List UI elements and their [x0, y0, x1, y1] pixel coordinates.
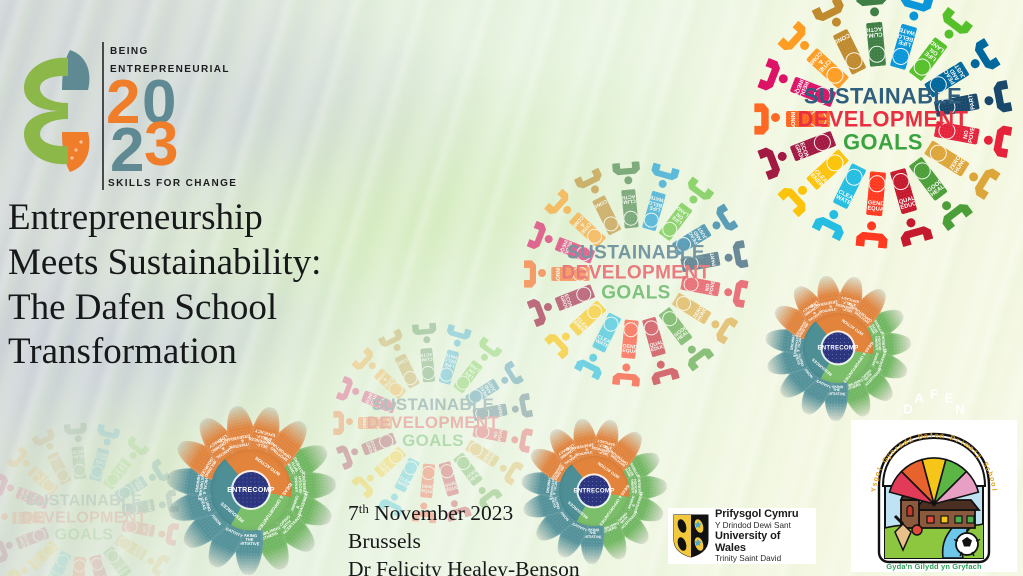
sdg-figure-icon: [679, 170, 719, 210]
sdg-figure-head: [453, 339, 462, 348]
sdg-figure-head: [479, 352, 489, 362]
sdg-figure-icon: [1, 441, 35, 475]
sdg-figure-icon: [538, 325, 579, 365]
sdg-figure-body: [96, 424, 121, 440]
sdg-figure-head: [724, 253, 734, 263]
sdg-goal-label: LIFE BELOW WATER: [444, 352, 458, 368]
sdg-figure-icon: [28, 422, 60, 455]
sdg-center-wordmark: SUSTAINABLEDEVELOPMENTGOALS: [367, 396, 499, 450]
sdg-goal-tile: QUALITY EDUCATION: [890, 168, 917, 215]
dafen-crest: YsgolGynraddDafenPrimarySchoolDAFEN: [859, 424, 1009, 568]
sdg-figure-body: [731, 240, 748, 269]
dafen-primary-school-logo: YsgolGynraddDafenPrimarySchoolDAFEN Gyda…: [851, 420, 1017, 572]
sdg-figure-icon: [648, 357, 682, 393]
event-date-number: 7: [348, 501, 359, 525]
sdg-figure-head: [350, 447, 359, 456]
sdg-figure-head: [908, 10, 920, 22]
sdg-goal-label: GENDER EQUALITY: [867, 200, 882, 213]
sdg-figure-head: [560, 331, 572, 343]
dafen-fan-letter-E: E: [945, 391, 954, 406]
sdg-figure-icon: [63, 416, 88, 443]
sdg-figure-head: [511, 405, 519, 413]
sdg-figure-body: [972, 166, 1001, 200]
sdg-center-wordmark: SUSTAINABLEDEVELOPMENTGOALS: [21, 492, 147, 543]
dafen-crest-motto: Gyda'n Gilydd yn Gryfach: [851, 562, 1017, 571]
sdg-figure-body: [446, 324, 472, 341]
sdg-figure-head: [686, 344, 697, 355]
sdg-figure-icon: [745, 103, 780, 134]
sdg-figure-head: [590, 184, 601, 195]
sdg-figure-head: [538, 269, 546, 277]
sdg-figure-body: [899, 225, 933, 247]
sdg-figure-icon: [94, 417, 123, 448]
sdg-figure-icon: [896, 214, 936, 256]
entrecomp-hub-label: ENTRECOMP: [227, 486, 274, 493]
sdg-figure-head: [562, 204, 574, 216]
sdg-figure-head: [969, 57, 982, 70]
sdg-figure-body: [650, 162, 680, 182]
sdg-wheel-primary: NO POVERTYZERO HUNGERGOOD HEALTHQUALITY …: [750, 0, 1016, 252]
sdg-figure-body: [574, 167, 604, 190]
sdg-goal-tile: LIFE BELOW WATER: [89, 448, 109, 482]
sdg-figure-head: [866, 221, 876, 231]
sdg-goal-tile: LIFE BELOW WATER: [642, 191, 666, 232]
sdg-goal-label: INNOVATION: [554, 268, 559, 281]
sdg-figure-icon: [771, 177, 818, 223]
sdg-figure-head: [543, 301, 554, 312]
sdg-figure-icon: [329, 373, 363, 405]
sdg-goal-label: INNOVATION: [360, 417, 364, 428]
sdg-goal-label: GENDER EQUALITY: [622, 345, 635, 356]
sdg-figure-head: [940, 199, 953, 212]
uwtsd-english-name: University of Wales: [715, 530, 811, 555]
sdg-figure-body: [754, 103, 768, 134]
dafen-fan-letter-A: A: [914, 391, 923, 406]
uwtsd-welsh-name: Prifysgol Cymru: [715, 508, 811, 520]
sdg-figure-icon: [346, 468, 382, 504]
sdg-figure-body: [992, 80, 1012, 113]
sdg-figure-head: [796, 184, 809, 197]
sdg-figure-body: [612, 372, 640, 387]
entrecomp-hub-label: ENTRECOMP: [573, 488, 614, 495]
sdg-figure-body: [574, 357, 604, 380]
sdg-figure-icon: [705, 310, 745, 349]
dafen-fan-wedge: [854, 424, 1014, 576]
be-logo-divider: [102, 42, 104, 190]
sdg-figure-icon: [570, 160, 608, 199]
sdg-figure-icon: [981, 78, 1021, 115]
sdg-figure-body: [524, 260, 537, 287]
sdg-figure-body: [64, 423, 88, 436]
sdg-figure-head: [622, 363, 631, 372]
sdg-center-line-3: GOALS: [21, 527, 147, 544]
sdg-figure-icon: [722, 277, 757, 309]
sdg-figure-head: [500, 375, 510, 385]
sdg-goal-label: LIFE BELOW WATER: [897, 27, 916, 48]
sdg-goal-label: CLIMATE ACTION: [72, 449, 83, 458]
entrecomp-hub: ENTRECOMP: [233, 472, 269, 508]
dafen-fan-letter-F: F: [930, 387, 938, 402]
sdg-figure-head: [6, 484, 15, 493]
sdg-figure-body: [757, 146, 782, 180]
sdg-figure-head: [5, 541, 14, 550]
sdg-center-line-3: GOALS: [562, 284, 711, 304]
sdg-figure-icon: [121, 430, 155, 464]
sdg-figure-head: [21, 459, 31, 469]
sdg-figure-body: [714, 315, 739, 345]
being-entrepreneurial-logo: BEING ENTREPRENEURIAL 2 0 2 3 SKILLS FOR…: [18, 20, 213, 190]
sdg-center-line-3: GOALS: [798, 131, 969, 154]
sdg-figure-head: [776, 150, 788, 162]
title-line-3: The Dafen School: [8, 286, 428, 331]
sdg-figure-head: [655, 360, 665, 370]
sdg-center-line-2: DEVELOPMENT: [367, 414, 499, 432]
dafen-fan-letter-D: D: [903, 402, 912, 417]
sdg-center-line-3: GOALS: [367, 432, 499, 450]
sdg-figure-icon: [0, 535, 17, 566]
sdg-goal-tile: LIFE BELOW WATER: [438, 349, 459, 385]
sdg-goal-tile: QUALITY EDUCATION: [642, 317, 666, 358]
sdg-figure-icon: [611, 362, 641, 395]
sdg-figure-head: [711, 220, 722, 231]
sdg-goal-tile: CLIMATE ACTION: [866, 22, 886, 67]
sdg-goal-tile: GENDER EQUALITY: [420, 463, 435, 498]
sdg-figure-head: [771, 113, 780, 122]
sdg-figure-head: [146, 556, 155, 565]
sdg-goal-tile: GENDER EQUALITY: [72, 556, 87, 576]
sdg-figure-body: [650, 366, 680, 386]
sdg-center-wordmark: SUSTAINABLEDEVELOPMENTGOALS: [798, 84, 969, 153]
sdg-figure-icon: [749, 55, 793, 97]
sdg-figure-head: [45, 442, 54, 451]
sdg-goal-label: LIFE BELOW WATER: [648, 194, 664, 212]
sdg-figure-icon: [962, 160, 1008, 205]
sdg-figure-head: [128, 451, 138, 461]
sdg-figure-icon: [471, 331, 506, 367]
be-logo-line1: BEING: [110, 46, 149, 57]
entrecomp-flower-right: WORKING WITH OTHERSLEARNING THROUGH EXPE…: [762, 272, 914, 424]
sdg-figure-head: [658, 179, 668, 189]
sdg-goal-label: GOOD HEALTH: [674, 328, 690, 344]
title-line-1: Entrepreneurship: [8, 196, 428, 241]
university-of-wales-logo: Prifysgol Cymru Y Drindod Dewi Sant Univ…: [668, 508, 816, 564]
sdg-figure-body: [856, 0, 888, 7]
sdg-center-wordmark: SUSTAINABLEDEVELOPMENTGOALS: [562, 244, 711, 305]
event-location: Brussels: [348, 528, 580, 556]
sdg-figure-head: [587, 352, 598, 363]
sdg-figure-head: [967, 171, 980, 184]
sdg-figure-body: [856, 231, 888, 248]
event-date: 7th November 2023: [348, 500, 580, 528]
sdg-figure-icon: [494, 357, 529, 392]
sdg-figure-icon: [771, 15, 818, 61]
entrecomp-hub-label: ENTRECOMP: [817, 345, 858, 352]
sdg-figure-body: [992, 125, 1012, 158]
sdg-figure-icon: [808, 204, 851, 249]
sdg-center-line-2: DEVELOPMENT: [21, 509, 147, 526]
sdg-figure-icon: [538, 183, 579, 223]
sdg-figure-head: [870, 6, 880, 16]
sdg-goal-label: CLIMATE ACTION: [622, 192, 635, 203]
be-logo-year-bottom-left: 2: [110, 120, 144, 182]
sdg-goal-label: LIFE BELOW WATER: [94, 450, 108, 465]
sdg-figure-head: [830, 16, 843, 29]
sdg-figure-icon: [933, 192, 979, 238]
event-date-rest: November 2023: [369, 501, 514, 525]
sdg-figure-icon: [981, 123, 1021, 160]
sdg-figure-head: [103, 438, 112, 447]
sdg-figure-head: [984, 95, 995, 106]
sdg-figure-icon: [647, 155, 681, 191]
sdg-figure-icon: [705, 199, 745, 238]
sdg-goal-tile: CLIMATE ACTION: [621, 189, 638, 228]
sdg-figure-head: [798, 39, 811, 52]
sdg-figure-icon: [679, 338, 719, 378]
sdg-figure-head: [20, 566, 30, 576]
sdg-figure-head: [365, 473, 375, 483]
entrecomp-flower-left: WORKING WITH OTHERSLEARNING THROUGH EXPE…: [163, 402, 339, 576]
sdg-figure-head: [777, 73, 789, 85]
sdg-goal-label: GENDER EQUALITY: [421, 486, 433, 496]
sdg-center-line-1: SUSTAINABLE: [562, 244, 711, 264]
sdg-figure-icon: [443, 317, 474, 349]
sdg-goal-label: INNOVATION: [15, 513, 19, 524]
sdg-figure-icon: [855, 0, 889, 18]
be-logo-mark-icon: [18, 46, 96, 176]
sdg-figure-head: [983, 135, 994, 146]
sdg-goal-label: INNOVATION: [789, 112, 795, 126]
sdg-figure-icon: [611, 153, 641, 186]
uwtsd-english-sub: Trinity Saint David: [715, 554, 811, 563]
sdg-figure-body: [731, 279, 748, 308]
sdg-figure-icon: [519, 218, 557, 254]
sdg-figure-icon: [855, 220, 889, 257]
uwtsd-wordmark: Prifysgol Cymru Y Drindod Dewi Sant Univ…: [715, 508, 811, 563]
dafen-fan-letter-N: N: [955, 402, 964, 417]
presenter-name: Dr Felicity Healey-Benson: [348, 556, 580, 576]
title-line-2: Meets Sustainability:: [8, 241, 428, 286]
presentation-slide: NO POVERTYZERO HUNGERGOOD HEALTHQUALITY …: [0, 0, 1023, 576]
sdg-figure-head: [544, 234, 555, 245]
title-line-4: Transformation: [8, 330, 428, 375]
uwtsd-welsh-sub: Y Drindod Dewi Sant: [715, 521, 811, 530]
sdg-goal-tile: GENDER EQUALITY: [621, 320, 638, 359]
slide-footer-details: 7th November 2023 Brussels Dr Felicity H…: [348, 500, 580, 576]
sdg-goal-tile: CLIMATE ACTION: [72, 446, 87, 479]
sdg-figure-head: [74, 435, 81, 442]
sdg-goal-tile: QUALITY EDUCATION: [438, 461, 459, 497]
sdg-figure-head: [943, 27, 956, 40]
sdg-goal-tile: LIFE BELOW WATER: [890, 23, 917, 70]
slide-title: Entrepreneurship Meets Sustainability: T…: [8, 196, 428, 375]
sdg-figure-icon: [516, 260, 546, 287]
sdg-figure-body: [612, 161, 640, 176]
sdg-figure-body: [812, 214, 846, 241]
sdg-figure-head: [477, 485, 487, 495]
sdg-figure-icon: [722, 239, 757, 271]
sdg-goal-pictogram-icon: [421, 465, 435, 480]
sdg-figure-icon: [962, 33, 1008, 78]
sdg-figure-icon: [896, 0, 936, 24]
sdg-figure-head: [688, 194, 699, 205]
sdg-figure-head: [351, 387, 360, 396]
sdg-center-line-1: SUSTAINABLE: [367, 396, 499, 414]
sdg-figure-head: [346, 418, 353, 425]
event-date-ordinal: th: [359, 502, 369, 516]
sdg-figure-head: [827, 208, 840, 221]
sdg-figure-icon: [808, 0, 851, 34]
sdg-goal-tile: GENDER EQUALITY: [866, 171, 886, 216]
be-logo-year-bottom-right: 3: [144, 114, 178, 176]
sdg-figure-head: [147, 472, 156, 481]
sdg-figure-icon: [0, 507, 8, 530]
sdg-figure-head: [723, 288, 733, 298]
sdg-figure-body: [757, 58, 782, 92]
sdg-center-line-2: DEVELOPMENT: [562, 264, 711, 284]
sdg-center-line-2: DEVELOPMENT: [798, 107, 969, 130]
uwtsd-shield-icon: [673, 514, 709, 558]
sdg-figure-icon: [0, 471, 17, 502]
sdg-wheel-mid: NO POVERTYZERO HUNGERGOOD HEALTHQUALITY …: [520, 158, 752, 390]
sdg-figure-head: [905, 217, 917, 229]
sdg-figure-icon: [570, 348, 608, 387]
sdg-figure-icon: [933, 0, 979, 46]
sdg-figure-head: [624, 176, 633, 185]
sdg-wheel-ghost: NO POVERTYZERO HUNGERGOOD HEALTHQUALITY …: [0, 420, 182, 576]
sdg-figure-head: [710, 319, 721, 330]
sdg-goal-label: GOOD HEALTH: [467, 471, 481, 485]
sdg-goal-label: CLIMATE ACTION: [867, 25, 882, 38]
sdg-figure-head: [498, 463, 508, 473]
sdg-center-line-1: SUSTAINABLE: [21, 492, 147, 509]
be-logo-tagline: SKILLS FOR CHANGE: [108, 178, 237, 189]
sdg-figure-head: [1, 513, 8, 520]
sdg-figure-icon: [749, 142, 793, 184]
sdg-center-line-1: SUSTAINABLE: [798, 84, 969, 107]
